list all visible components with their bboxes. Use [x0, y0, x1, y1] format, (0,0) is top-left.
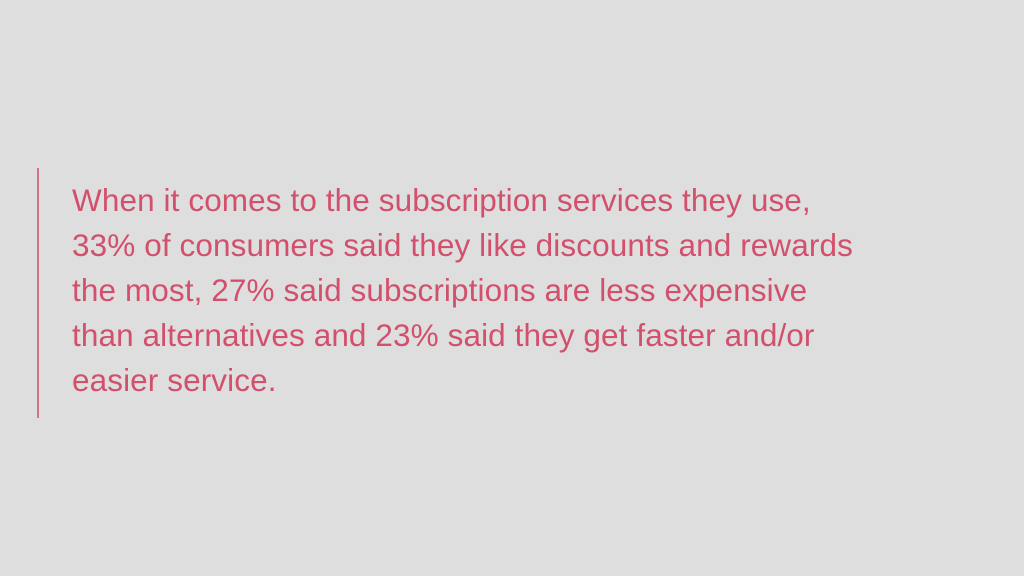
quote-line: the most, 27% said subscriptions are les… — [72, 268, 962, 313]
slide-canvas: When it comes to the subscription servic… — [0, 0, 1024, 576]
quote-line: When it comes to the subscription servic… — [72, 178, 962, 223]
quote-line: easier service. — [72, 358, 962, 403]
quote-text-block: When it comes to the subscription servic… — [72, 178, 962, 403]
accent-rule-divider — [37, 168, 39, 418]
quote-line: than alternatives and 23% said they get … — [72, 313, 962, 358]
quote-line: 33% of consumers said they like discount… — [72, 223, 962, 268]
